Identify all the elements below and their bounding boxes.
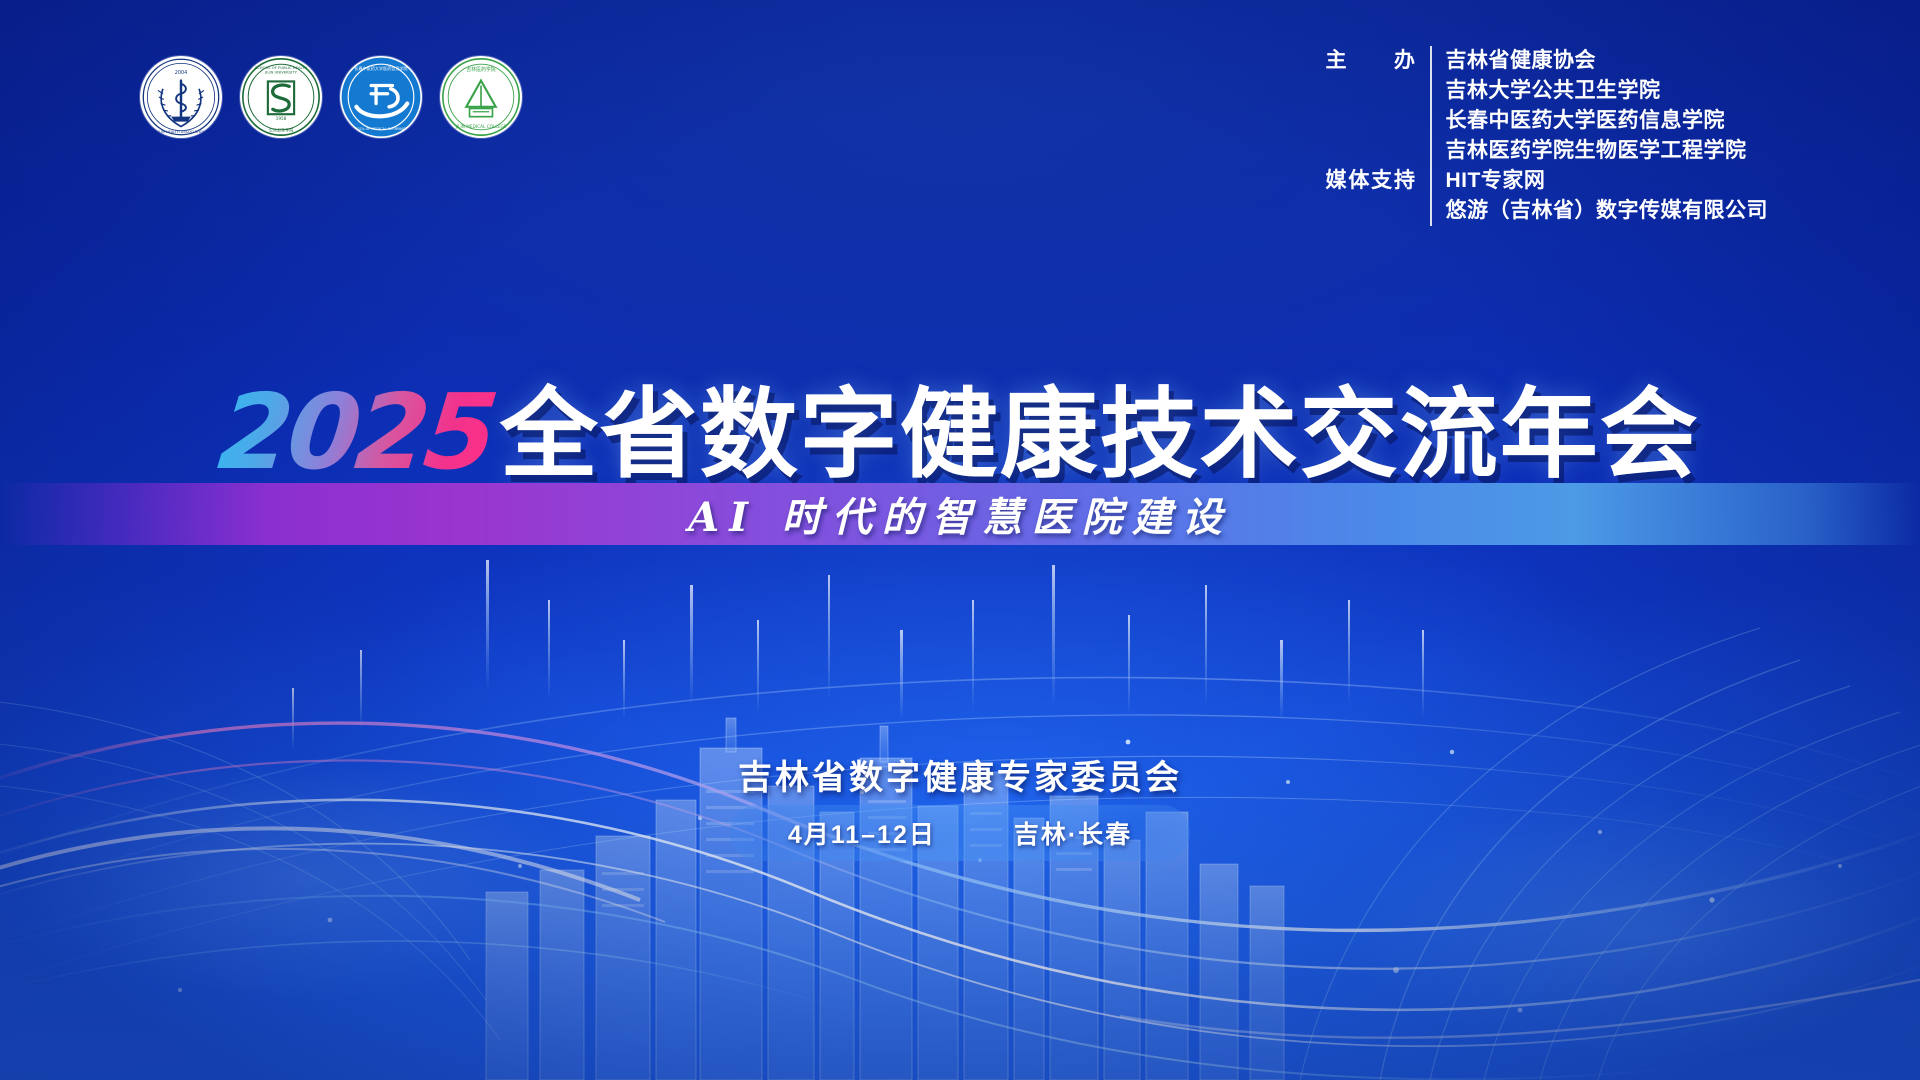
host-name: 吉林省健康协会	[1446, 46, 1747, 76]
main-title-block: 2025 全省数字健康技术交流年会	[0, 355, 1920, 497]
media-label: 媒体支持	[1326, 166, 1430, 196]
jilin-health-association-logo: 2004 JILIN HEALTH ASSOCIATION	[140, 56, 222, 138]
host-name-list: 吉林省健康协会 吉林大学公共卫生学院 长春中医药大学医药信息学院 吉林医药学院生…	[1446, 46, 1747, 166]
svg-text:长春中医药大学医药信息学院: 长春中医药大学医药信息学院	[354, 65, 407, 71]
svg-text:JILIN MEDICAL COLLEGE: JILIN MEDICAL COLLEGE	[455, 124, 507, 130]
media-name: 悠游（吉林省）数字传媒有限公司	[1446, 196, 1769, 226]
media-divider	[1430, 166, 1432, 226]
event-location: 吉林·长春	[1014, 815, 1132, 851]
organizer-credits: 主办 吉林省健康协会 吉林大学公共卫生学院 长春中医药大学医药信息学院 吉林医药…	[1326, 46, 1769, 226]
media-row: 媒体支持 HIT专家网 悠游（吉林省）数字传媒有限公司	[1326, 166, 1769, 226]
host-name: 吉林医药学院生物医学工程学院	[1446, 136, 1747, 166]
subtitle: AI 时代的智慧医院建设	[0, 483, 1920, 545]
svg-text:公共卫生学院: 公共卫生学院	[269, 126, 294, 132]
committee-name: 吉林省数字健康专家委员会	[0, 750, 1920, 799]
page-title: 全省数字健康技术交流年会	[500, 355, 1700, 497]
host-divider	[1430, 46, 1432, 166]
banner-header: 2004 JILIN HEALTH ASSOCIATION	[0, 0, 1920, 300]
media-name: HIT专家网	[1446, 166, 1769, 196]
svg-text:2004: 2004	[175, 70, 188, 76]
host-name: 吉林大学公共卫生学院	[1446, 76, 1747, 106]
jilin-medical-college-logo: 吉林医药学院 JILIN MEDICAL COLLEGE	[440, 56, 522, 138]
svg-text:1958: 1958	[276, 116, 287, 121]
jilin-university-public-health-logo: SCHOOL OF PUBLIC HEALTH JILIN UNIVERSITY…	[240, 56, 322, 138]
conference-banner: 2004 JILIN HEALTH ASSOCIATION	[0, 0, 1920, 1080]
host-name: 长春中医药大学医药信息学院	[1446, 106, 1747, 136]
event-meta-pill: 4月11–12日 吉林·长春	[730, 805, 1190, 861]
host-row: 主办 吉林省健康协会 吉林大学公共卫生学院 长春中医药大学医药信息学院 吉林医药…	[1326, 46, 1769, 166]
media-name-list: HIT专家网 悠游（吉林省）数字传媒有限公司	[1446, 166, 1769, 226]
organizer-logo-strip: 2004 JILIN HEALTH ASSOCIATION	[140, 56, 522, 138]
svg-text:JILIN UNIVERSITY: JILIN UNIVERSITY	[264, 71, 297, 75]
changchun-tcm-university-logo: 长春中医药大学医药信息学院 SCHOOL OF MEDICAL INFORMAT…	[340, 56, 422, 138]
svg-text:SCHOOL OF PUBLIC HEALTH: SCHOOL OF PUBLIC HEALTH	[255, 66, 308, 70]
host-label: 主办	[1326, 46, 1430, 76]
event-date: 4月11–12日	[788, 815, 936, 851]
svg-text:JILIN HEALTH ASSOCIATION: JILIN HEALTH ASSOCIATION	[156, 130, 206, 134]
svg-text:SCHOOL OF MEDICAL INFORMATION: SCHOOL OF MEDICAL INFORMATION	[350, 127, 412, 131]
svg-text:吉林医药学院: 吉林医药学院	[466, 66, 496, 73]
title-year: 2025	[214, 371, 500, 493]
